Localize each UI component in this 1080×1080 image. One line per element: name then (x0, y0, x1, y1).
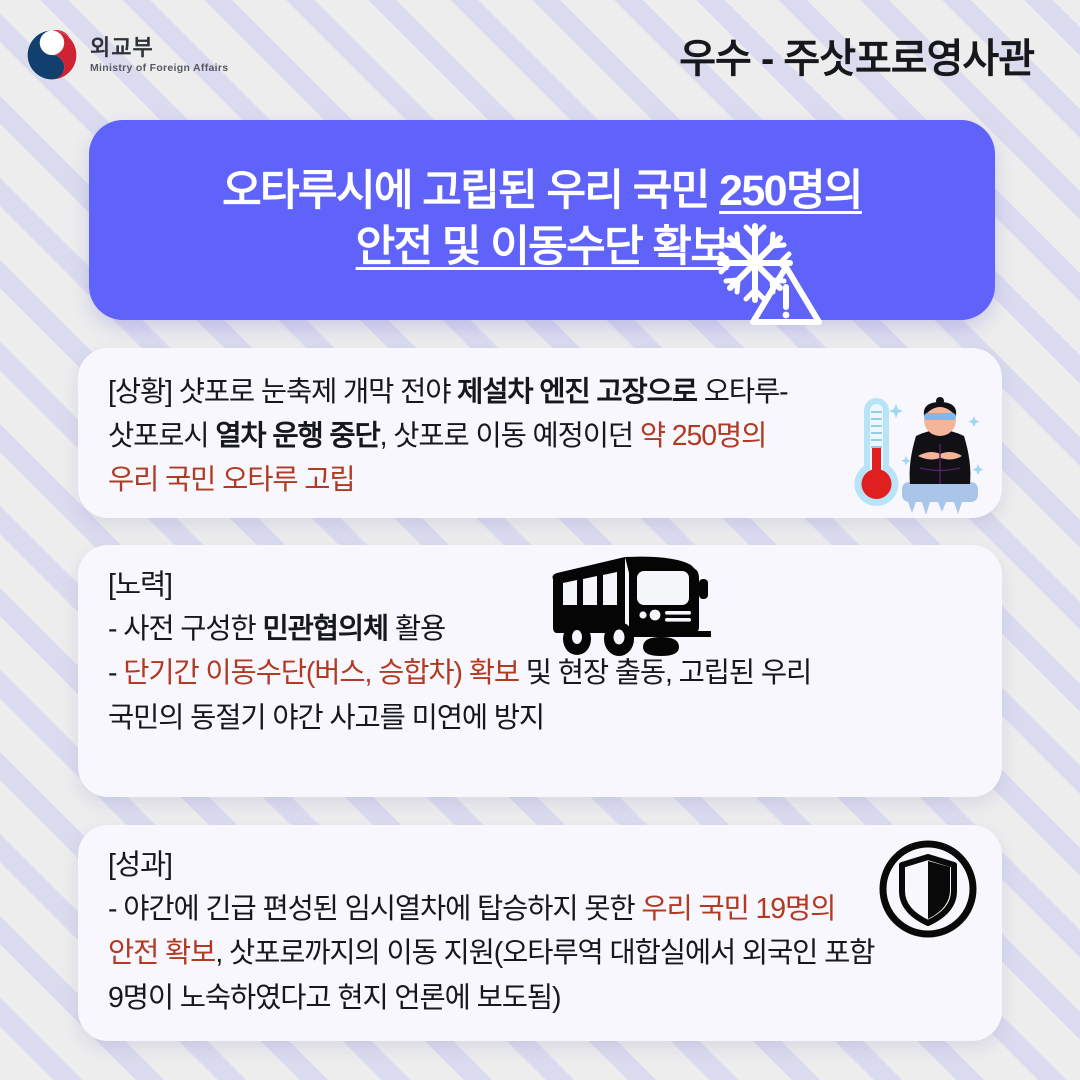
effort-l2-a: - 사전 구성한 (108, 613, 262, 645)
result-l2-a: - 야간에 긴급 편성된 임시열차에 탑승하지 못한 (108, 893, 641, 925)
effort-label: [노력] (108, 569, 172, 601)
title-banner-text: 오타루시에 고립된 우리 국민 250명의 안전 및 이동수단 확보 (192, 164, 892, 276)
brand-name-en: Ministry of Foreign Affairs (90, 63, 228, 74)
effort-l3-b: 단기간 이동수단(버스, 승합차) 확보 (123, 657, 519, 689)
result-l4-a: 9명이 노숙하였다고 현지 언론에 보도됨) (108, 982, 560, 1014)
infographic-page: 외교부 Ministry of Foreign Affairs 우수 - 주삿포… (0, 0, 1080, 1080)
situation-l1-b: 제설차 엔진 고장으로 (457, 376, 697, 408)
effort-l3-a: - (108, 657, 123, 689)
effort-card-text: [노력] - 사전 구성한 민관협의체 활용 - 단기간 이동수단(버스, 승합… (78, 545, 1002, 740)
situation-l1-a: [상황] 샷포로 눈축제 개막 전야 (108, 376, 457, 408)
effort-l2-b: 민관협의체 (262, 613, 388, 645)
title-line2-underlined: 안전 및 이동수단 확보 (356, 223, 729, 271)
effort-l4-a: 국민의 동절기 야간 사고를 미연에 방지 (108, 702, 544, 734)
title-banner: 오타루시에 고립된 우리 국민 250명의 안전 및 이동수단 확보 (89, 120, 995, 320)
result-label: [성과] (108, 849, 172, 881)
situation-l3-a: 우리 국민 오타루 고립 (108, 464, 355, 496)
effort-card: [노력] - 사전 구성한 민관협의체 활용 - 단기간 이동수단(버스, 승합… (78, 545, 1002, 797)
effort-l2-c: 활용 (388, 613, 445, 645)
situation-l1-c: 오타루- (697, 376, 788, 408)
situation-l2-c: , 삿포로 이동 예정이던 (380, 420, 640, 452)
brand-text: 외교부 Ministry of Foreign Affairs (90, 37, 228, 74)
result-l3-a: 안전 확보 (108, 937, 215, 969)
result-card-text: [성과] - 야간에 긴급 편성된 임시열차에 탑승하지 못한 우리 국민 19… (78, 825, 1002, 1020)
result-l3-b: , 삿포로까지의 이동 지원(오타루역 대합실에서 외국인 포함 (215, 937, 874, 969)
title-line1-underlined: 250명의 (719, 167, 862, 215)
title-line1-plain: 오타루시에 고립된 우리 국민 (222, 167, 719, 215)
result-l2-b: 우리 국민 19명의 (641, 893, 835, 925)
page-header: 외교부 Ministry of Foreign Affairs 우수 - 주삿포… (0, 0, 1080, 110)
effort-l3-c: 및 현장 출동, 고립된 우리 (519, 657, 811, 689)
mofa-taegeuk-logo-icon (26, 29, 78, 81)
result-card: [성과] - 야간에 긴급 편성된 임시열차에 탑승하지 못한 우리 국민 19… (78, 825, 1002, 1041)
brand-block: 외교부 Ministry of Foreign Affairs (26, 29, 228, 81)
brand-name-ko: 외교부 (90, 37, 228, 59)
situation-l2-b: 열차 운행 중단 (215, 420, 379, 452)
situation-card-text: [상황] 샷포로 눈축제 개막 전야 제설차 엔진 고장으로 오타루- 삿포로시… (78, 348, 1002, 503)
situation-l2-a: 삿포로시 (108, 420, 215, 452)
page-title: 우수 - 주삿포로영사관 (679, 26, 1034, 84)
situation-l2-d: 약 250명의 (640, 420, 766, 452)
situation-card: [상황] 샷포로 눈축제 개막 전야 제설차 엔진 고장으로 오타루- 삿포로시… (78, 348, 1002, 518)
